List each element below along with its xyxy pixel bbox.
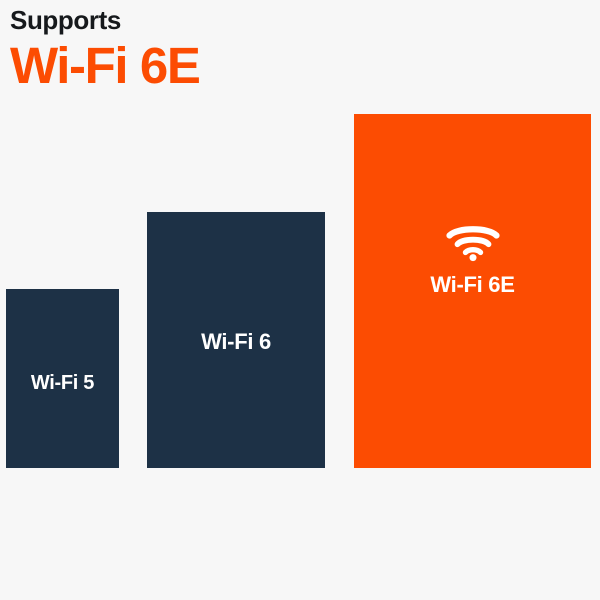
bar-wifi-5-label: Wi-Fi 5	[6, 371, 119, 395]
bar-chart: Wi-Fi 5 Wi-Fi 6	[0, 0, 600, 600]
bar-wifi-6e: Wi-Fi 6E	[354, 114, 591, 468]
bar-wifi-6: Wi-Fi 6	[147, 212, 325, 468]
bar-wifi-6e-content: Wi-Fi 6E	[354, 114, 591, 298]
wifi-6e-infographic: Supports Wi-Fi 6E Wi-Fi 5 Wi-Fi 6	[0, 0, 600, 600]
bar-wifi-6e-label: Wi-Fi 6E	[354, 272, 591, 298]
bar-wifi-5-content: Wi-Fi 5	[6, 289, 119, 395]
wifi-icon	[446, 222, 500, 262]
bar-wifi-5: Wi-Fi 5	[6, 289, 119, 468]
bar-wifi-6-label: Wi-Fi 6	[147, 329, 325, 355]
bar-wifi-6-content: Wi-Fi 6	[147, 212, 325, 355]
